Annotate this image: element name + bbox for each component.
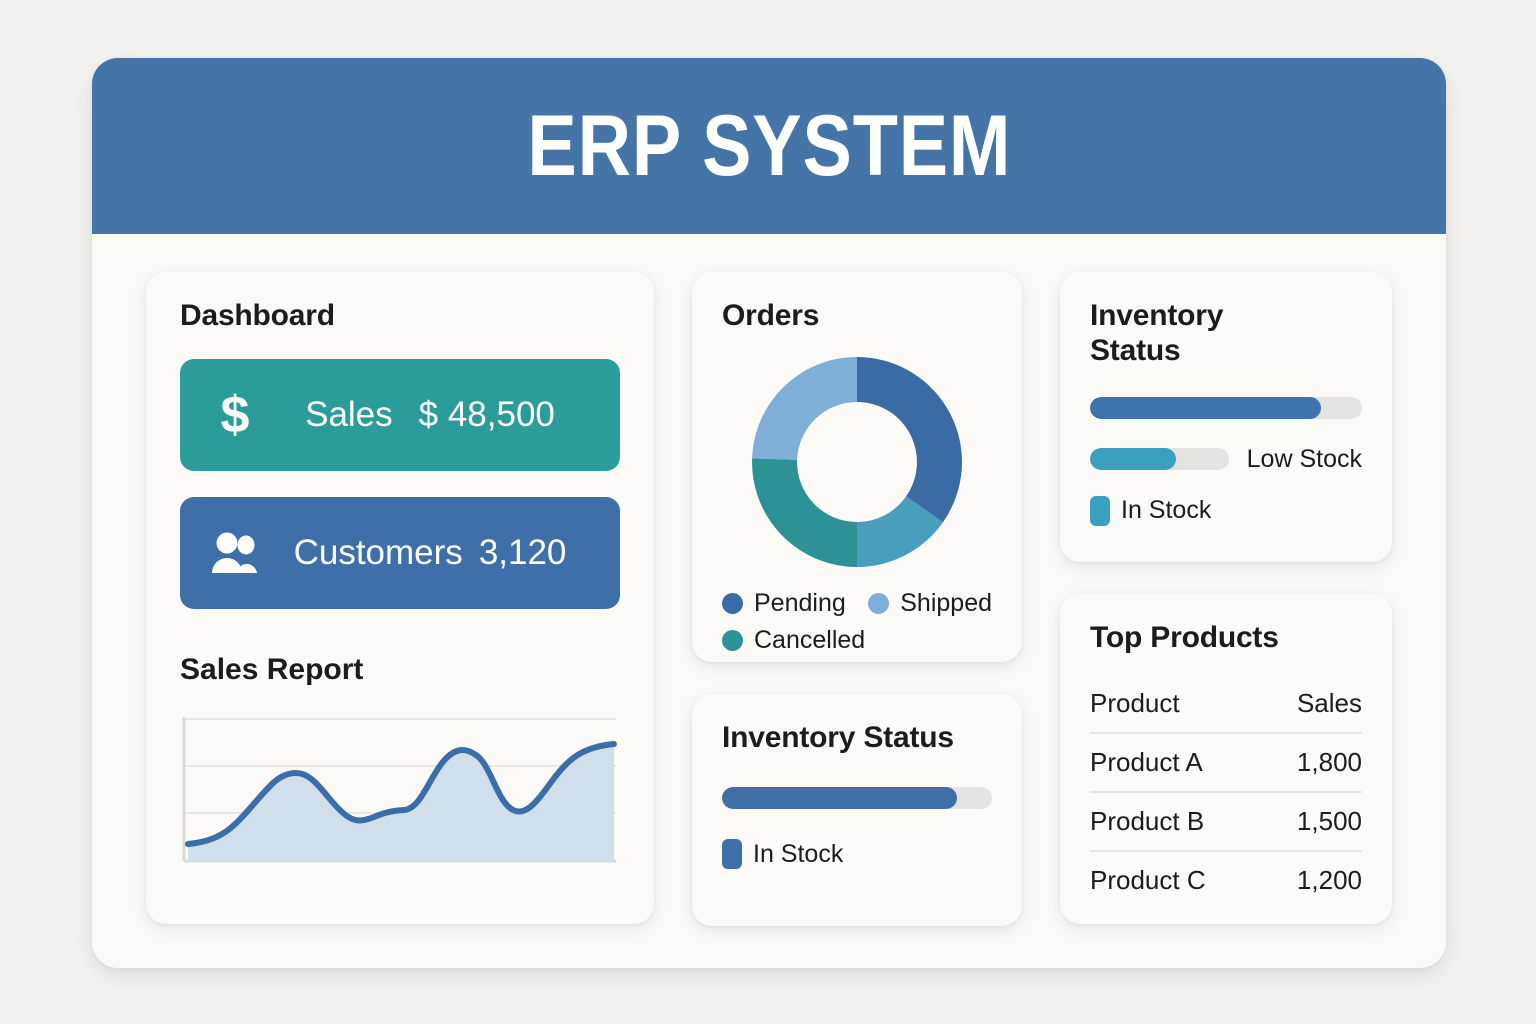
- legend-label-shipped: Shipped: [900, 589, 992, 618]
- sales-stat-labels: Sales $ 48,500: [262, 395, 592, 435]
- inventory-right-bar-two-fill: [1090, 448, 1176, 470]
- product-name: Product A: [1090, 733, 1264, 792]
- inventory-mid-title: Inventory Status: [722, 720, 992, 755]
- app-title: ERP SYSTEM: [527, 97, 1011, 196]
- donut-segment-shipped: [752, 357, 857, 460]
- top-products-table: Product Sales Product A 1,800 Product B: [1090, 675, 1362, 909]
- column-header-product[interactable]: Product: [1090, 675, 1264, 733]
- sales-report-chart: [180, 711, 620, 871]
- middle-column: Orders: [692, 272, 1022, 926]
- shipped-color-swatch: [868, 593, 889, 614]
- inventory-mid-bar-track: [722, 787, 992, 809]
- top-products-card: Top Products Product Sales Product A 1,8: [1060, 594, 1392, 924]
- right-column: Inventory Status Low Stock: [1060, 272, 1392, 924]
- inventory-mid-legend[interactable]: In Stock: [722, 839, 992, 869]
- orders-donut-chart: [722, 349, 992, 575]
- donut-segment-pending: [857, 357, 962, 522]
- inventory-right-bar-one-track: [1090, 397, 1362, 419]
- donut-segment-cancelled: [752, 459, 857, 568]
- inventory-status-card-middle: Inventory Status In Stock: [692, 694, 1022, 926]
- product-name: Product C: [1090, 851, 1264, 909]
- sales-stat-value: $ 48,500: [419, 395, 555, 435]
- customers-stat-tile[interactable]: Customers 3,120: [180, 497, 620, 609]
- inventory-right-bar-two-track[interactable]: [1090, 448, 1229, 470]
- people-icon: [208, 532, 262, 574]
- legend-label-pending: Pending: [754, 589, 846, 618]
- dashboard-card: Dashboard $ Sales $ 48,500: [146, 272, 654, 924]
- pending-color-swatch: [722, 593, 743, 614]
- sales-stat-label: Sales: [305, 395, 393, 435]
- inventory-right-bar-two-row: Low Stock: [1090, 445, 1362, 474]
- legend-item-shipped[interactable]: Shipped: [868, 589, 992, 618]
- dashboard-body: Dashboard $ Sales $ 48,500: [92, 234, 1446, 968]
- inventory-right-legend[interactable]: In Stock: [1090, 496, 1362, 526]
- inventory-mid-legend-label: In Stock: [753, 840, 843, 869]
- table-row[interactable]: Product B 1,500: [1090, 792, 1362, 851]
- orders-legend-row-2: Cancelled: [722, 626, 992, 655]
- inventory-mid-bar[interactable]: [722, 787, 992, 809]
- product-sales: 1,500: [1264, 792, 1362, 851]
- low-stock-label: Low Stock: [1247, 445, 1362, 474]
- inventory-right-legend-label: In Stock: [1121, 496, 1211, 525]
- orders-title: Orders: [722, 298, 992, 333]
- customers-stat-label: Customers: [294, 533, 463, 573]
- cancelled-color-swatch: [722, 630, 743, 651]
- table-row[interactable]: Product C 1,200: [1090, 851, 1362, 909]
- table-header-row: Product Sales: [1090, 675, 1362, 733]
- product-sales: 1,200: [1264, 851, 1362, 909]
- orders-card: Orders: [692, 272, 1022, 662]
- column-header-sales[interactable]: Sales: [1264, 675, 1362, 733]
- legend-label-cancelled: Cancelled: [754, 626, 865, 655]
- in-stock-color-swatch: [722, 839, 742, 869]
- inventory-mid-bar-fill: [722, 787, 957, 809]
- product-sales: 1,800: [1264, 733, 1362, 792]
- inventory-right-bar-one[interactable]: [1090, 397, 1362, 419]
- inventory-right-title: Inventory Status: [1090, 298, 1280, 369]
- orders-legend: Pending Shipped Cancelled: [722, 589, 992, 655]
- left-column: Dashboard $ Sales $ 48,500: [146, 272, 654, 924]
- customers-stat-value: 3,120: [479, 533, 567, 573]
- inventory-right-bar-one-fill: [1090, 397, 1321, 419]
- table-row[interactable]: Product A 1,800: [1090, 733, 1362, 792]
- sales-stat-tile[interactable]: $ Sales $ 48,500: [180, 359, 620, 471]
- legend-item-pending[interactable]: Pending: [722, 589, 846, 618]
- legend-item-cancelled[interactable]: Cancelled: [722, 626, 865, 655]
- dashboard-title: Dashboard: [180, 298, 620, 333]
- cards-grid: Dashboard $ Sales $ 48,500: [146, 272, 1392, 928]
- product-name: Product B: [1090, 792, 1264, 851]
- customers-stat-labels: Customers 3,120: [262, 533, 592, 573]
- inventory-status-card-right: Inventory Status Low Stock: [1060, 272, 1392, 562]
- dollar-icon: $: [208, 389, 262, 441]
- sales-report-title: Sales Report: [180, 653, 620, 687]
- title-bar: ERP SYSTEM: [92, 58, 1446, 234]
- app-window: ERP SYSTEM Dashboard $ Sales $ 48,500: [92, 58, 1446, 968]
- top-products-title: Top Products: [1090, 620, 1362, 655]
- in-stock-color-swatch: [1090, 496, 1110, 526]
- orders-legend-row-1: Pending Shipped: [722, 589, 992, 618]
